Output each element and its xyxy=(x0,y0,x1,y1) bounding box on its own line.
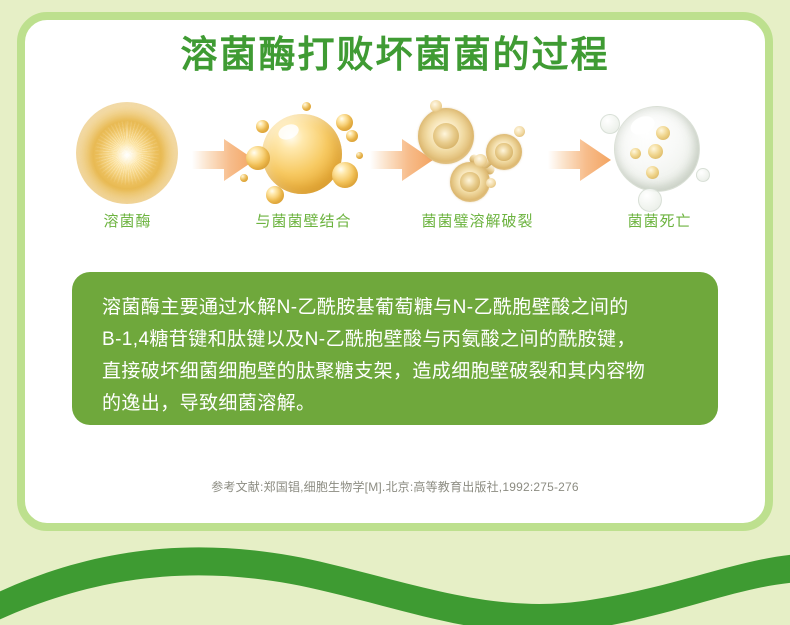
bottom-wave-decoration xyxy=(0,530,790,625)
process-step-4-label: 菌菌死亡 xyxy=(592,212,727,232)
golden-droplet-cluster-icon xyxy=(236,100,371,210)
process-step-2: 与菌菌壁结合 xyxy=(236,100,371,245)
golden-enzyme-sphere-icon xyxy=(60,100,195,210)
process-step-3-label: 菌菌璧溶解破裂 xyxy=(410,212,545,232)
process-step-1-label: 溶菌酶 xyxy=(60,212,195,232)
sphere-rays xyxy=(95,121,159,185)
dead-bacteria-ghost-sphere-icon xyxy=(592,100,727,210)
description-line-2: B-1,4糖苷键和肽键以及N-乙酰胞壁酸与丙氨酸之间的酰胺键， xyxy=(102,324,698,356)
broken-cell-wall-cluster-icon xyxy=(410,100,545,210)
process-step-3: 菌菌璧溶解破裂 xyxy=(410,100,545,245)
promo-page: 溶菌酶打败坏菌菌的过程 溶菌酶 xyxy=(0,0,790,625)
description-line-4: 的逸出，导致细菌溶解。 xyxy=(102,388,698,420)
description-text: 溶菌酶主要通过水解N-乙酰胺基葡萄糖与N-乙酰胞壁酸之间的 B-1,4糖苷键和肽… xyxy=(102,292,698,420)
description-panel: 溶菌酶主要通过水解N-乙酰胺基葡萄糖与N-乙酰胞壁酸之间的 B-1,4糖苷键和肽… xyxy=(72,272,718,425)
process-step-1: 溶菌酶 xyxy=(60,100,195,245)
page-title: 溶菌酶打败坏菌菌的过程 xyxy=(0,32,790,78)
reference-citation: 参考文献:郑国锠,细胞生物学[M].北京:高等教育出版社,1992:275-27… xyxy=(0,478,790,495)
description-line-3: 直接破坏细菌细胞壁的肽聚糖支架，造成细胞壁破裂和其内容物 xyxy=(102,356,698,388)
process-step-4: 菌菌死亡 xyxy=(592,100,727,245)
description-line-1: 溶菌酶主要通过水解N-乙酰胺基葡萄糖与N-乙酰胞壁酸之间的 xyxy=(102,292,698,324)
process-step-2-label: 与菌菌壁结合 xyxy=(236,212,371,232)
process-diagram: 溶菌酶 xyxy=(40,100,750,245)
